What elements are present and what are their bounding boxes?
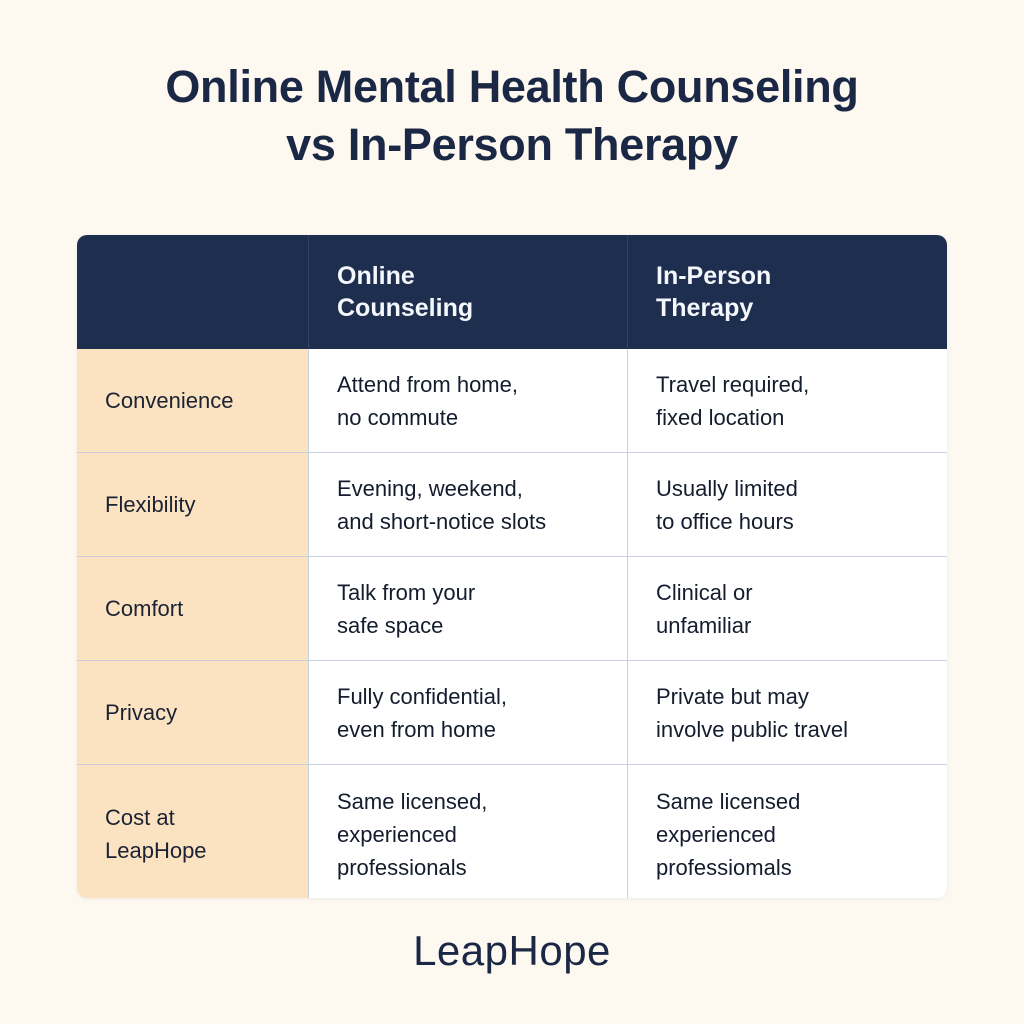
infographic-canvas: Online Mental Health Counseling vs In-Pe… [0,0,1024,1024]
table-body: Convenience Attend from home, no commute… [77,349,947,898]
row-label-text: Convenience [105,384,233,417]
row-value-inperson-privacy: Private but may involve public travel [627,661,947,764]
page-title-line-2: vs In-Person Therapy [0,116,1024,174]
cell-text: Usually limited to office hours [656,472,798,538]
row-value-inperson-cost: Same licensed experienced professiomals [627,765,947,898]
table-header-in-person-therapy: In-Person Therapy [627,235,947,349]
cell-text: Same licensed experienced professiomals [656,785,800,884]
row-value-online-privacy: Fully confidential, even from home [308,661,627,764]
cell-text: Private but may involve public travel [656,680,848,746]
cell-text: Attend from home, no commute [337,368,518,434]
row-label-text: Comfort [105,592,183,625]
cell-text: Clinical or unfamiliar [656,576,753,642]
page-title-line-1: Online Mental Health Counseling [0,58,1024,116]
row-label-text: Privacy [105,696,177,729]
cell-text: Travel required, fixed location [656,368,809,434]
row-value-inperson-comfort: Clinical or unfamiliar [627,557,947,660]
table-header-label-cell [77,235,308,349]
table-row: Convenience Attend from home, no commute… [77,349,947,452]
cell-text: Same licensed, experienced professionals [337,785,487,884]
row-value-inperson-convenience: Travel required, fixed location [627,349,947,452]
row-label-comfort: Comfort [77,557,308,660]
table-row: Privacy Fully confidential, even from ho… [77,660,947,764]
brand-logo: LeapHope [0,925,1024,977]
cell-text: Talk from your safe space [337,576,475,642]
table-header-row: Online Counseling In-Person Therapy [77,235,947,349]
table-row: Comfort Talk from your safe space Clinic… [77,556,947,660]
row-label-cost-at-leaphope: Cost at LeapHope [77,765,308,898]
page-title: Online Mental Health Counseling vs In-Pe… [0,58,1024,174]
table-header-online-counseling: Online Counseling [308,235,627,349]
row-label-flexibility: Flexibility [77,453,308,556]
comparison-table: Online Counseling In-Person Therapy Conv… [77,235,947,898]
row-label-privacy: Privacy [77,661,308,764]
row-value-online-comfort: Talk from your safe space [308,557,627,660]
row-value-online-cost: Same licensed, experienced professionals [308,765,627,898]
row-label-text: Flexibility [105,488,195,521]
row-value-inperson-flexibility: Usually limited to office hours [627,453,947,556]
row-label-convenience: Convenience [77,349,308,452]
table-row: Flexibility Evening, weekend, and short-… [77,452,947,556]
cell-text: Fully confidential, even from home [337,680,507,746]
row-value-online-convenience: Attend from home, no commute [308,349,627,452]
table-row: Cost at LeapHope Same licensed, experien… [77,764,947,898]
row-label-text: Cost at LeapHope [105,801,207,867]
cell-text: Evening, weekend, and short-notice slots [337,472,546,538]
row-value-online-flexibility: Evening, weekend, and short-notice slots [308,453,627,556]
